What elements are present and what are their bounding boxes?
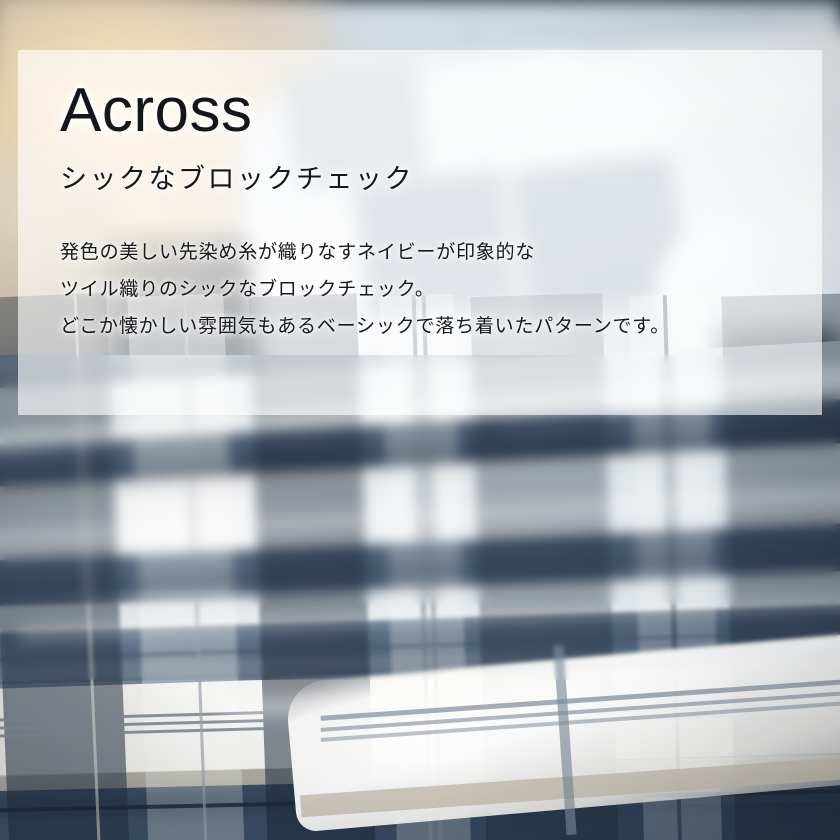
depth-of-field-mid <box>0 590 840 680</box>
description-line-2: ツイル織りのシックなブロックチェック。 <box>60 271 780 308</box>
product-banner: Across シックなブロックチェック 発色の美しい先染め糸が織りなすネイビーが… <box>0 0 840 840</box>
page-subtitle: シックなブロックチェック <box>60 164 780 196</box>
page-title: Across <box>60 80 780 142</box>
description-line-1: 発色の美しい先染め糸が織りなすネイビーが印象的な <box>60 234 780 271</box>
text-overlay-panel: Across シックなブロックチェック 発色の美しい先染め糸が織りなすネイビーが… <box>18 50 822 415</box>
description: 発色の美しい先染め糸が織りなすネイビーが印象的な ツイル織りのシックなブロックチ… <box>60 234 780 345</box>
hero-text-block: Across シックなブロックチェック 発色の美しい先染め糸が織りなすネイビーが… <box>60 80 780 346</box>
description-line-3: どこか懐かしい雰囲気もあるベーシックで落ち着いたパターンです。 <box>60 308 780 345</box>
